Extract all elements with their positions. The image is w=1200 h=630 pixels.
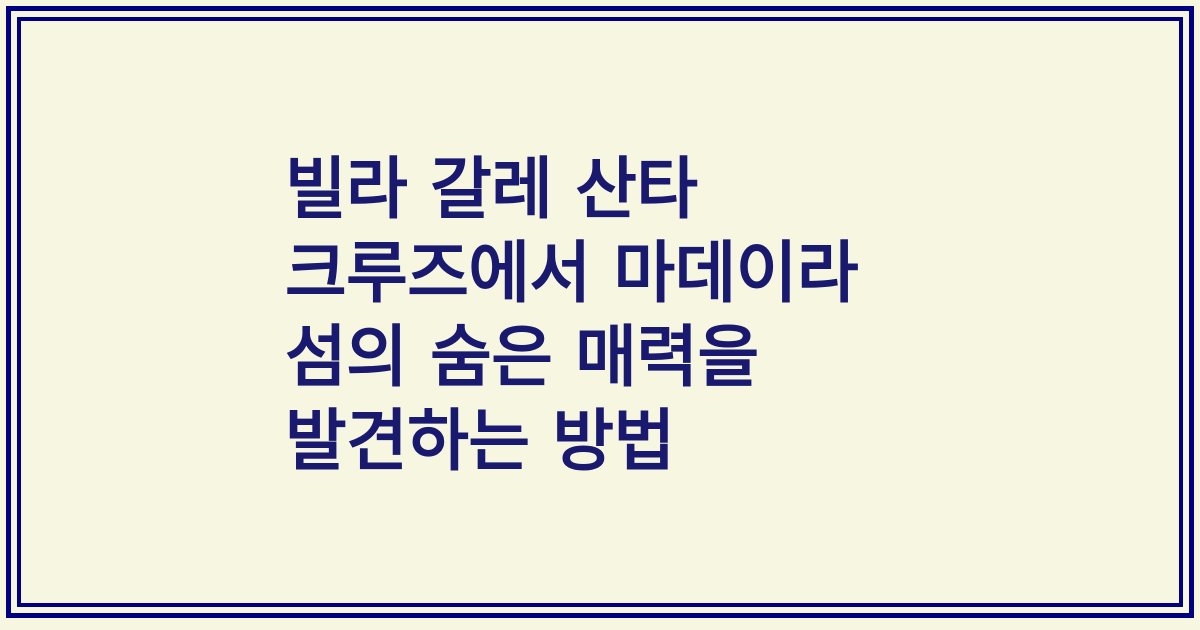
title-card: 빌라 갈레 산타 크루즈에서 마데이라 섬의 숨은 매력을 발견하는 방법 xyxy=(0,0,1200,630)
headline-container: 빌라 갈레 산타 크루즈에서 마데이라 섬의 숨은 매력을 발견하는 방법 xyxy=(0,0,1200,630)
page-title: 빌라 갈레 산타 크루즈에서 마데이라 섬의 숨은 매력을 발견하는 방법 xyxy=(285,147,960,483)
